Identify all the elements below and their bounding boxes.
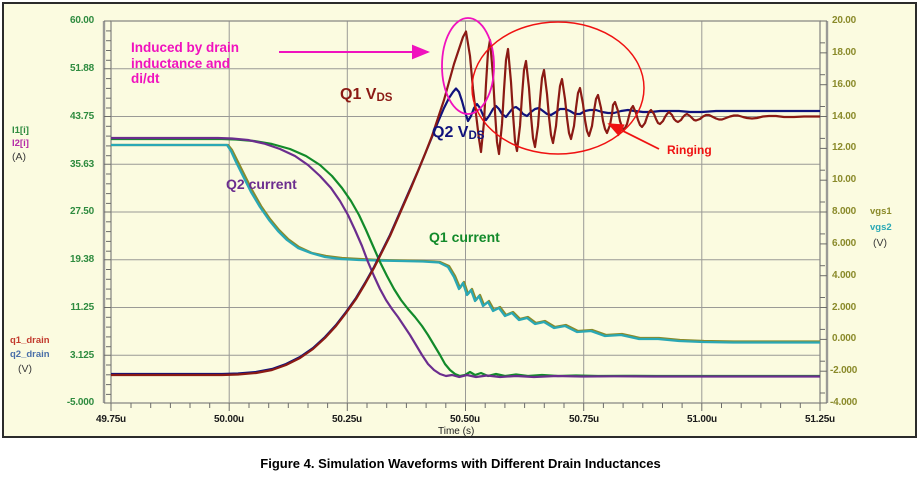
right-axis-label-vgs1: vgs1	[870, 206, 892, 217]
ytick-right-3: 14.00	[832, 111, 880, 122]
annotation-q1-vds-main: Q1 V	[340, 86, 376, 103]
ytick-right-1: 18.00	[832, 47, 880, 58]
ytick-right-9: 2.000	[832, 302, 880, 313]
annotation-induced-line-3: di/dt	[131, 71, 239, 87]
ytick-left-3: 35.63	[42, 159, 94, 170]
ytick-right-8: 4.000	[832, 270, 880, 281]
ytick-left-1: 51.88	[42, 63, 94, 74]
ytick-right-4: 12.00	[832, 142, 880, 153]
left-axis-label-i2: I2[i]	[12, 138, 29, 149]
xtick-5: 51.00u	[672, 414, 732, 425]
annotation-q2-vds-sub: DS	[468, 130, 484, 142]
plot-frame: 60.00 51.88 43.75 35.63 27.50 19.38 11.2…	[2, 2, 917, 438]
xtick-2: 50.25u	[317, 414, 377, 425]
left-axis-label-i1: I1[i]	[12, 125, 29, 136]
left-axis-label-volts: (V)	[18, 363, 32, 375]
ytick-right-11: -2.000	[830, 365, 878, 376]
left-axis-label-amps: (A)	[12, 151, 26, 163]
annotation-q2-vds: Q2 VDS	[432, 124, 484, 142]
ytick-right-2: 16.00	[832, 79, 880, 90]
xtick-4: 50.75u	[554, 414, 614, 425]
ytick-left-4: 27.50	[42, 206, 94, 217]
bottom-axis-ticks	[111, 403, 820, 411]
ytick-left-8: -5.000	[42, 397, 94, 408]
ytick-right-5: 10.00	[832, 174, 880, 185]
xtick-0: 49.75u	[81, 414, 141, 425]
ytick-right-0: 20.00	[832, 15, 880, 26]
ytick-right-10: 0.000	[832, 333, 880, 344]
left-axis-ticks	[104, 21, 111, 403]
annotation-q2-current: Q2 current	[226, 176, 297, 192]
annotation-induced-line-2: inductance and	[131, 56, 239, 72]
right-axis-label-volts: (V)	[873, 237, 887, 249]
left-axis-label-q1drain: q1_drain	[10, 335, 50, 346]
annotation-q1-current: Q1 current	[429, 229, 500, 245]
annotation-induced-by-drain-inductance: Induced by drain inductance and di/dt	[131, 40, 239, 87]
annotation-q1-vds-sub: DS	[376, 92, 392, 104]
figure-container: 60.00 51.88 43.75 35.63 27.50 19.38 11.2…	[0, 0, 921, 497]
xtick-3: 50.50u	[435, 414, 495, 425]
annotation-ringing: Ringing	[667, 143, 712, 157]
ytick-left-5: 19.38	[42, 254, 94, 265]
left-axis-label-q2drain: q2_drain	[10, 349, 50, 360]
right-axis-label-vgs2: vgs2	[870, 222, 892, 233]
right-axis-ticks	[820, 21, 827, 403]
xtick-1: 50.00u	[199, 414, 259, 425]
annotation-induced-line-1: Induced by drain	[131, 40, 239, 56]
xaxis-title: Time (s)	[438, 426, 474, 437]
caption-bar: Figure 4. Simulation Waveforms with Diff…	[0, 440, 921, 497]
ytick-left-6: 11.25	[42, 302, 94, 313]
annotation-q1-vds: Q1 VDS	[340, 86, 392, 104]
xtick-6: 51.25u	[790, 414, 850, 425]
figure-caption: Figure 4. Simulation Waveforms with Diff…	[0, 456, 921, 471]
ytick-left-0: 60.00	[42, 15, 94, 26]
annotation-q2-vds-main: Q2 V	[432, 124, 468, 141]
ytick-left-2: 43.75	[42, 111, 94, 122]
ytick-right-12: -4.000	[830, 397, 878, 408]
